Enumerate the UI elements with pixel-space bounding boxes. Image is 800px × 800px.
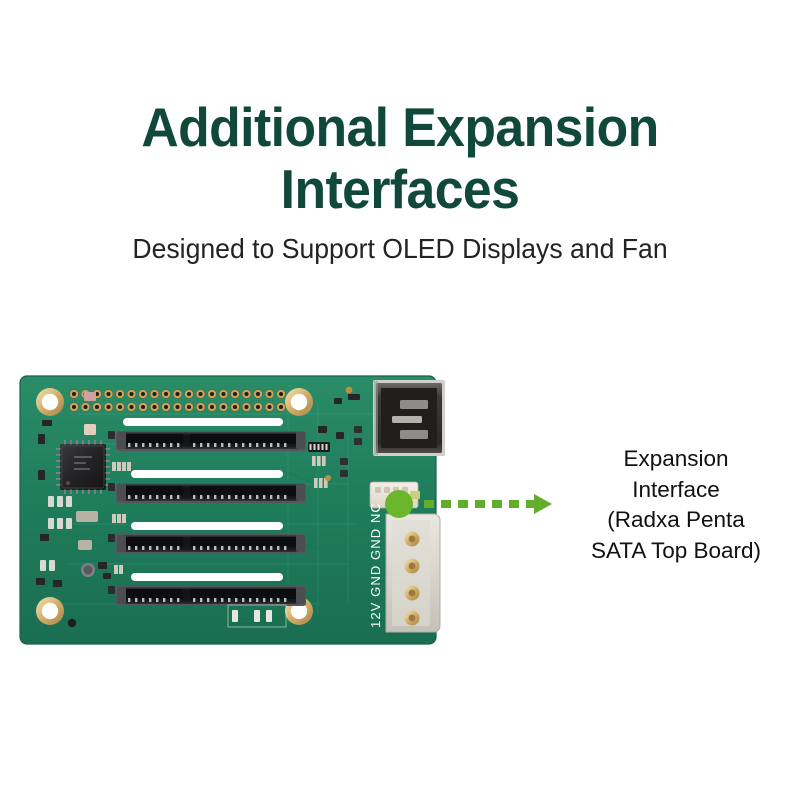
pcb-board-svg: 12V GND GND NC [18, 374, 438, 646]
callout-label: Expansion Interface (Radxa Penta SATA To… [552, 444, 800, 566]
callout-line-4: SATA Top Board) [552, 536, 800, 567]
sata-port-4 [116, 586, 306, 606]
page-subtitle: Designed to Support OLED Displays and Fa… [20, 232, 780, 266]
callout-dashed-leader-line [424, 500, 536, 508]
callout-line-1: Expansion [552, 444, 800, 475]
page-title: Additional Expansion Interfaces [24, 96, 776, 220]
sata-port-2 [116, 483, 306, 503]
callout-line-2: Interface [552, 475, 800, 506]
callout-arrowhead-icon [534, 494, 552, 514]
esata-port [373, 380, 445, 456]
expansion-connector-highlight-dot [385, 490, 413, 518]
pcb-board-image: 12V GND GND NC [18, 374, 438, 646]
power-connector-label: 12V GND GND NC [368, 502, 383, 628]
sata-port-3 [116, 534, 306, 554]
callout-line-3: (Radxa Penta [552, 505, 800, 536]
power-connector-molex [386, 514, 440, 632]
sata-port-1 [116, 431, 306, 451]
heading-block: Additional Expansion Interfaces Designed… [0, 96, 800, 220]
sata-controller-chip [56, 440, 110, 494]
